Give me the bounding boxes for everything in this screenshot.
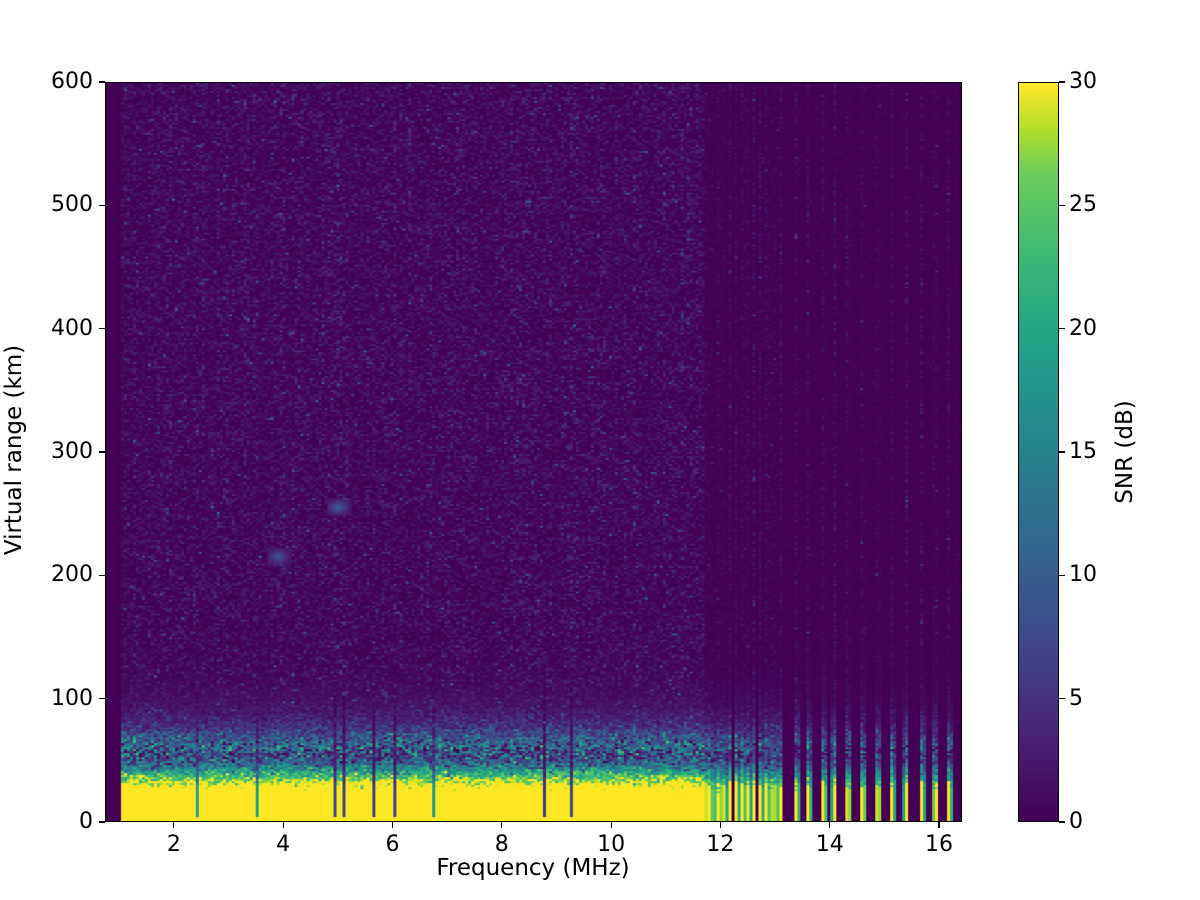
colorbar-tick-mark	[1059, 698, 1065, 699]
colorbar-tick-label: 15	[1069, 441, 1097, 463]
colorbar-tick-label: 0	[1069, 811, 1083, 833]
colorbar-tick-mark	[1059, 81, 1065, 82]
colorbar-tick-label: 30	[1069, 71, 1097, 93]
colorbar-tick-mark	[1059, 821, 1065, 822]
colorbar-tick-mark	[1059, 205, 1065, 206]
colorbar-tick-mark	[1059, 451, 1065, 452]
colorbar-tick-mark	[1059, 328, 1065, 329]
ionogram-figure: IRF Kiruna Ionosonde KI167 2025-09-26 05…	[0, 0, 1200, 900]
colorbar-ticks: 051015202530	[0, 0, 1200, 900]
colorbar-tick-label: 25	[1069, 194, 1097, 216]
colorbar-label: SNR (dB)	[1112, 400, 1138, 503]
colorbar-tick-mark	[1059, 575, 1065, 576]
colorbar-tick-label: 20	[1069, 318, 1097, 340]
colorbar-tick-label: 10	[1069, 564, 1097, 586]
colorbar-tick-label: 5	[1069, 688, 1083, 710]
